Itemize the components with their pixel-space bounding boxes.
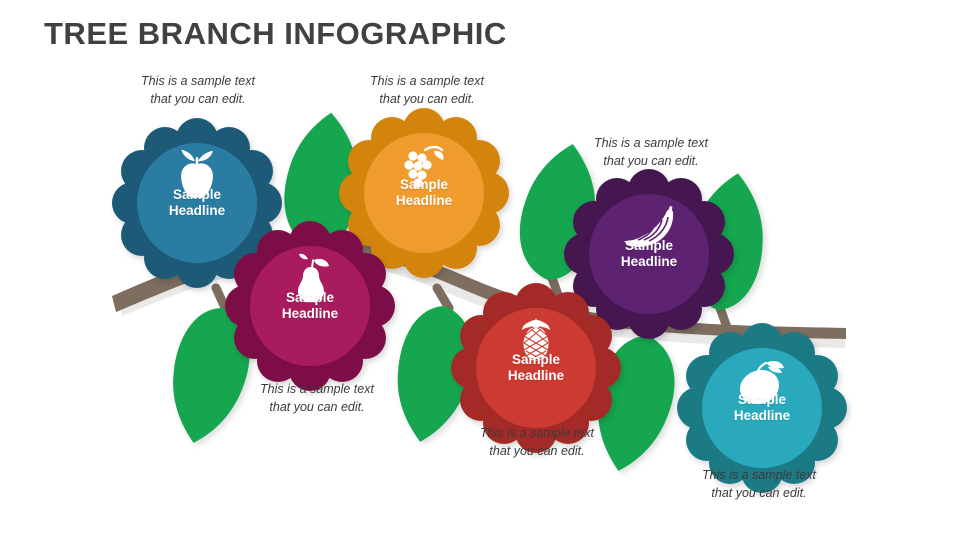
caption-node-1: This is a sample text that you can edit. bbox=[103, 72, 293, 108]
caption-node-4: This is a sample text that you can edit. bbox=[556, 134, 746, 170]
caption-node-2: This is a sample text that you can edit. bbox=[332, 72, 522, 108]
flower-center bbox=[364, 133, 484, 253]
caption-node-3: This is a sample text that you can edit. bbox=[222, 380, 412, 416]
pineapple-icon bbox=[522, 318, 550, 361]
flower-center bbox=[589, 194, 709, 314]
infographic-canvas: TREE BRANCH INFOGRAPHIC bbox=[0, 0, 960, 540]
flower-center bbox=[250, 246, 370, 366]
caption-node-6: This is a sample text that you can edit. bbox=[664, 466, 854, 502]
caption-node-5: This is a sample text that you can edit. bbox=[442, 424, 632, 460]
